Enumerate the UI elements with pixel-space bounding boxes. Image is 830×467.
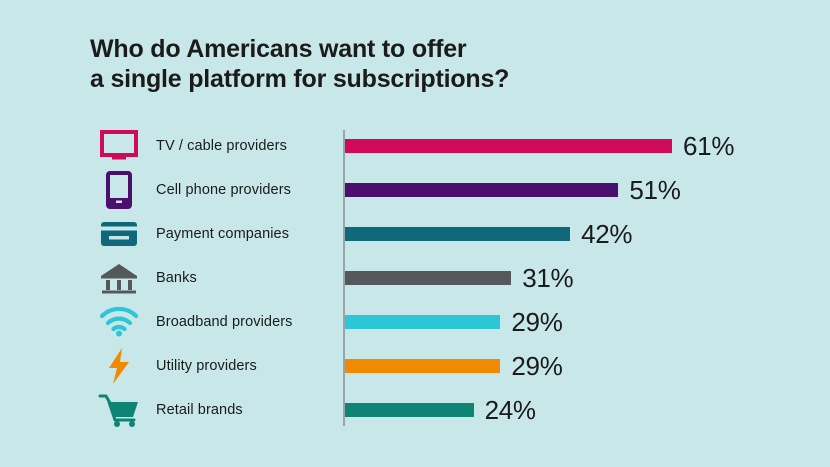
bar-value-label: 31% (522, 265, 573, 291)
title-line-1: Who do Americans want to offer (90, 34, 750, 64)
bar (345, 271, 511, 285)
bar-group: 51% (345, 168, 681, 212)
bar-value-label: 51% (629, 177, 680, 203)
mobile-phone-icon (95, 168, 143, 212)
bar-value-label: 29% (511, 353, 562, 379)
bar-group: 61% (345, 124, 734, 168)
shopping-cart-icon (95, 388, 143, 432)
bar-value-label: 61% (683, 133, 734, 159)
bar-chart: TV / cable providers 61% Cell phone prov… (0, 124, 830, 444)
page-title: Who do Americans want to offer a single … (90, 34, 750, 94)
credit-card-icon (95, 212, 143, 256)
bar-value-label: 24% (485, 397, 536, 423)
chart-row-broadband-providers: Broadband providers 29% (0, 300, 830, 344)
title-line-2: a single platform for subscriptions? (90, 64, 750, 94)
row-label: TV / cable providers (156, 124, 287, 168)
row-label: Cell phone providers (156, 168, 291, 212)
bar (345, 403, 474, 417)
infographic-chart-card: Who do Americans want to offer a single … (0, 0, 830, 467)
row-label: Banks (156, 256, 197, 300)
wifi-icon (95, 300, 143, 344)
chart-row-retail-brands: Retail brands 24% (0, 388, 830, 432)
chart-row-utility-providers: Utility providers 29% (0, 344, 830, 388)
bar-group: 31% (345, 256, 573, 300)
bar (345, 227, 570, 241)
bar (345, 359, 500, 373)
row-label: Utility providers (156, 344, 257, 388)
bank-icon (95, 256, 143, 300)
bar-group: 42% (345, 212, 632, 256)
chart-row-cell-phone-providers: Cell phone providers 51% (0, 168, 830, 212)
bar-group: 29% (345, 300, 563, 344)
bar-group: 29% (345, 344, 563, 388)
tv-icon (95, 124, 143, 168)
bar (345, 315, 500, 329)
chart-row-payment-companies: Payment companies 42% (0, 212, 830, 256)
bar-group: 24% (345, 388, 536, 432)
chart-row-banks: Banks 31% (0, 256, 830, 300)
chart-row-tv-cable-providers: TV / cable providers 61% (0, 124, 830, 168)
bar (345, 139, 672, 153)
bar-value-label: 29% (511, 309, 562, 335)
bar-value-label: 42% (581, 221, 632, 247)
bar (345, 183, 618, 197)
row-label: Broadband providers (156, 300, 293, 344)
row-label: Retail brands (156, 388, 243, 432)
lightning-bolt-icon (95, 344, 143, 388)
row-label: Payment companies (156, 212, 289, 256)
